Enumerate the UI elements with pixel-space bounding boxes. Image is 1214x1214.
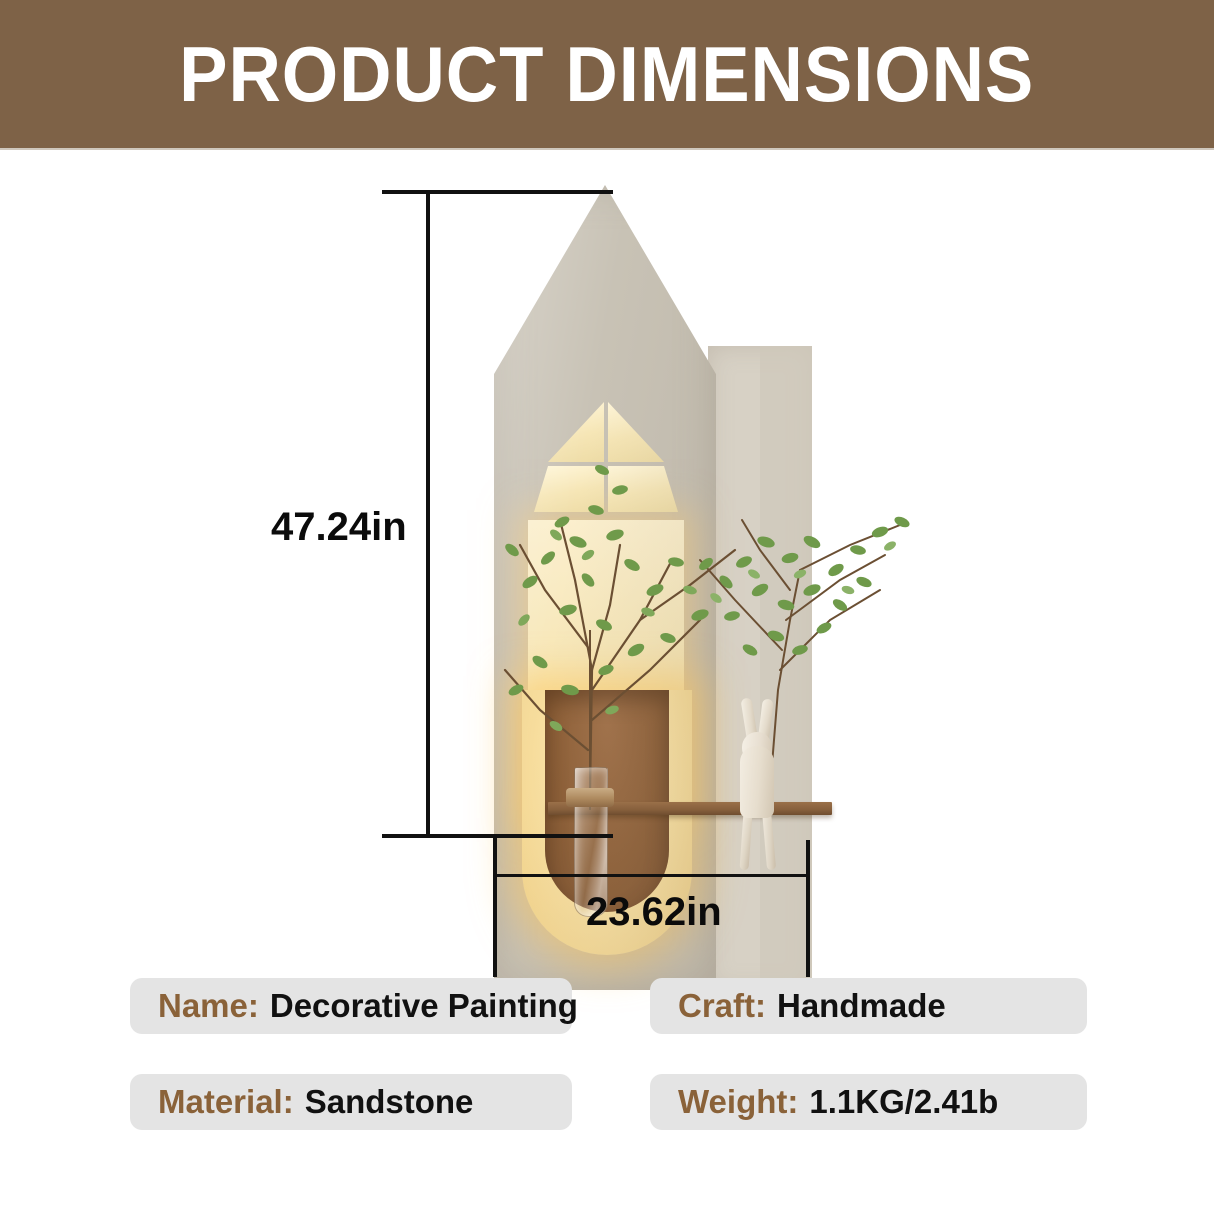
width-extension-line-right	[806, 840, 810, 977]
window-pane-top-right	[608, 402, 664, 462]
height-extension-line-top	[382, 190, 613, 194]
height-extension-line-bottom	[382, 834, 613, 838]
spec-label-craft: Craft:	[678, 987, 766, 1025]
spec-row-name: Name: Decorative Painting	[130, 978, 572, 1034]
right-slab-shadow-band	[760, 346, 812, 990]
vase-wooden-collar	[566, 788, 614, 807]
width-extension-line-left	[493, 834, 497, 977]
width-dimension-line	[493, 874, 810, 877]
width-dimension-label: 23.62in	[586, 890, 722, 935]
spec-label-name: Name:	[158, 987, 259, 1025]
height-dimension-line	[426, 190, 430, 838]
spec-row-material: Material: Sandstone	[130, 1074, 572, 1130]
product-illustration: 47.24in 23.62in	[0, 150, 1214, 940]
spec-value-weight: 1.1KG/2.41b	[809, 1083, 998, 1121]
window-pane-bottom-right	[608, 466, 678, 512]
gable-window	[534, 402, 676, 514]
height-dimension-label: 47.24in	[271, 505, 407, 550]
page-title: PRODUCT DIMENSIONS	[179, 35, 1034, 113]
spec-row-weight: Weight: 1.1KG/2.41b	[650, 1074, 1087, 1130]
spec-value-material: Sandstone	[305, 1083, 474, 1121]
window-pane-top-left	[548, 402, 604, 462]
spec-value-craft: Handmade	[777, 987, 946, 1025]
header-banner: PRODUCT DIMENSIONS	[0, 0, 1214, 148]
window-pane-bottom-left	[534, 466, 604, 512]
rabbit-body	[740, 746, 774, 818]
spec-label-material: Material:	[158, 1083, 294, 1121]
spec-value-name: Decorative Painting	[270, 987, 578, 1025]
spec-label-weight: Weight:	[678, 1083, 798, 1121]
spec-row-craft: Craft: Handmade	[650, 978, 1087, 1034]
